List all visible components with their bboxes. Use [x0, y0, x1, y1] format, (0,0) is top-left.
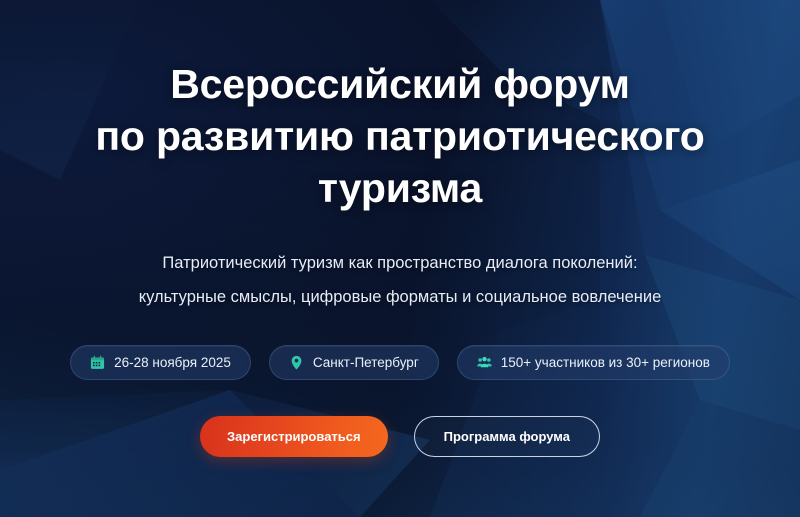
register-button[interactable]: Зарегистрироваться [200, 416, 388, 457]
forum-program-button[interactable]: Программа форума [414, 416, 600, 457]
page-subtitle-line-1: Патриотический туризм как пространство д… [139, 246, 662, 280]
info-pill-location: Санкт-Петербург [269, 345, 439, 380]
page-title-line-2: по развитию патриотического [95, 110, 704, 162]
page-subtitle-line-2: культурные смыслы, цифровые форматы и со… [139, 280, 662, 314]
info-pill-date-label: 26-28 ноября 2025 [114, 356, 231, 370]
info-pill-location-label: Санкт-Петербург [313, 356, 419, 370]
info-pill-participants-label: 150+ участников из 30+ регионов [501, 356, 710, 370]
hero-banner: Всероссийский форум по развитию патриоти… [0, 0, 800, 517]
location-pin-icon [289, 355, 304, 370]
hero-content: Всероссийский форум по развитию патриоти… [0, 0, 800, 517]
info-pill-participants: 150+ участников из 30+ регионов [457, 345, 730, 380]
info-pill-row: 26-28 ноября 2025 Санкт-Петербург [70, 345, 730, 380]
people-group-icon [477, 355, 492, 370]
page-title-line-1: Всероссийский форум [95, 58, 704, 110]
info-pill-date: 26-28 ноября 2025 [70, 345, 251, 380]
calendar-icon [90, 355, 105, 370]
page-subtitle: Патриотический туризм как пространство д… [139, 246, 662, 314]
page-title-line-3: туризма [95, 162, 704, 214]
cta-button-row: Зарегистрироваться Программа форума [200, 416, 600, 457]
page-title: Всероссийский форум по развитию патриоти… [95, 58, 704, 214]
